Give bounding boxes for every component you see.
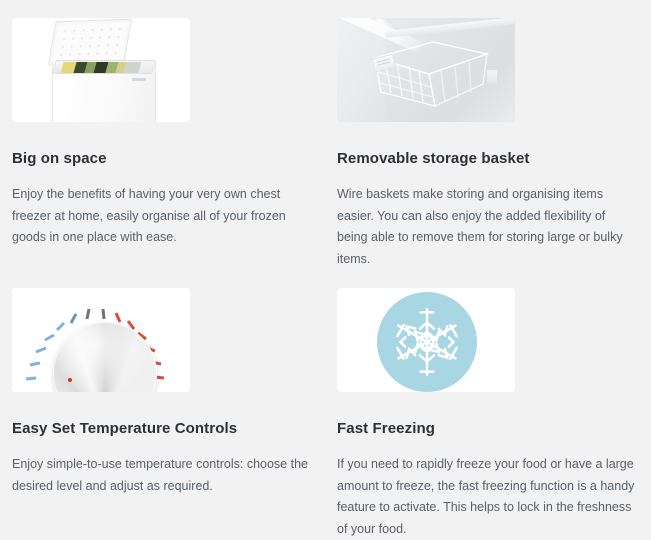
wire-basket: [371, 40, 489, 108]
frozen-food-contents: [60, 62, 141, 73]
chest-freezer-open-photo: [12, 18, 190, 122]
feature-description: If you need to rapidly freeze your food …: [337, 454, 637, 540]
basket-rail: [385, 18, 515, 38]
knob-indicator-dot: [68, 378, 72, 382]
feature-title: Big on space: [12, 150, 313, 168]
feature-grid: Big on space Enjoy the benefits of havin…: [0, 0, 651, 531]
feature-title: Fast Freezing: [337, 420, 639, 438]
feature-card-big-on-space: Big on space Enjoy the benefits of havin…: [0, 0, 325, 270]
feature-description: Enjoy simple-to-use temperature controls…: [12, 454, 312, 497]
snowflake-badge-photo: [337, 288, 515, 392]
feature-title: Easy Set Temperature Controls: [12, 420, 313, 438]
feature-title: Removable storage basket: [337, 150, 639, 168]
feature-card-easy-set-temperature-controls: Easy Set Temperature Controls Enjoy simp…: [0, 270, 325, 531]
feature-card-removable-storage-basket: Removable storage basket Wire baskets ma…: [325, 0, 651, 270]
feature-description: Enjoy the benefits of having your very o…: [12, 184, 312, 249]
basket-clip-right: [487, 70, 497, 84]
feature-card-fast-freezing: Fast Freezing If you need to rapidly fre…: [325, 270, 651, 531]
feature-description: Wire baskets make storing and organising…: [337, 184, 637, 270]
freezer-lid: [48, 19, 132, 66]
temperature-dial-photo: [12, 288, 190, 392]
wire-storage-basket-photo: [337, 18, 515, 122]
snowflake-badge-circle: [377, 292, 477, 392]
snowflake-icon: [388, 303, 466, 381]
freezer-brand-badge: [132, 78, 146, 81]
